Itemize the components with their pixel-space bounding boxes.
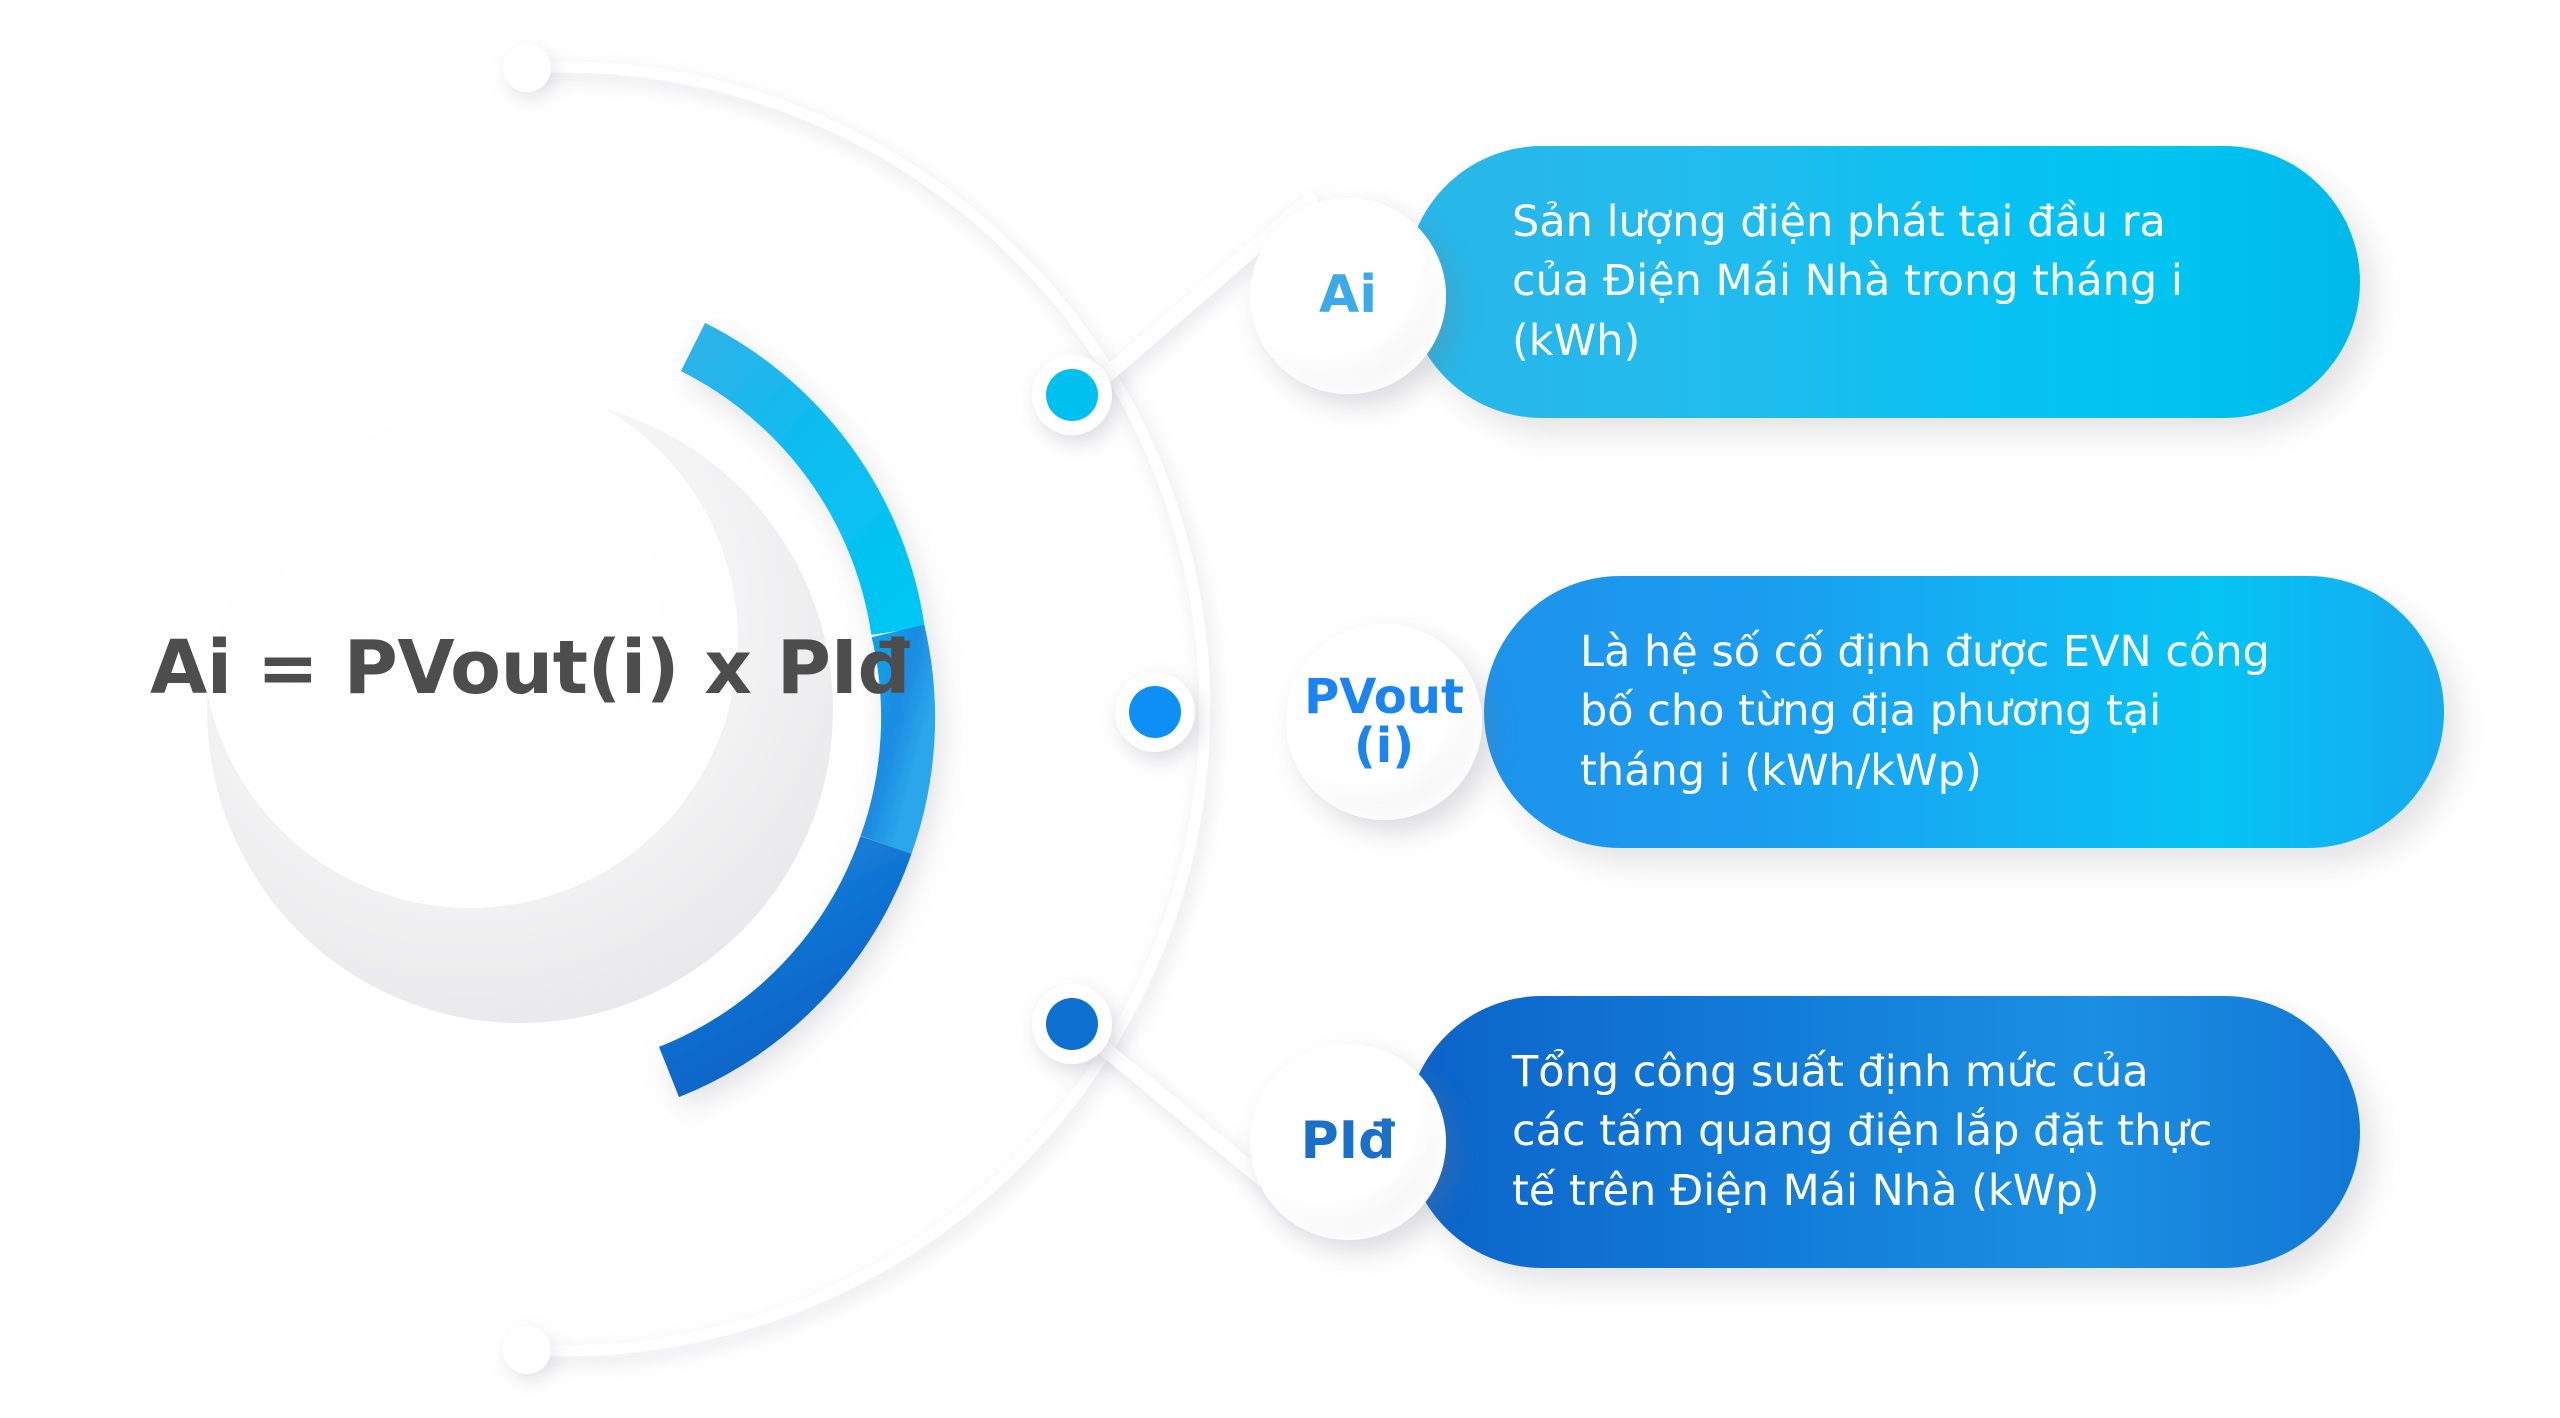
description-card-ai[interactable]: Sản lượng điện phát tại đầu ra của Điện … — [1406, 146, 2360, 418]
item-row-ai: Sản lượng điện phát tại đầu ra của Điện … — [0, 132, 2560, 432]
item-row-pvout: Là hệ số cố định được EVN công bố cho từ… — [0, 562, 2560, 862]
description-card-pid[interactable]: Tổng công suất định mức của các tấm quan… — [1406, 996, 2360, 1268]
outer-arc-cap-top — [503, 44, 551, 92]
badge-label-pid: PIđ — [1301, 1115, 1396, 1168]
description-text-ai: Sản lượng điện phát tại đầu ra của Điện … — [1406, 193, 2183, 371]
description-text-pvout: Là hệ số cố định được EVN công bố cho từ… — [1484, 623, 2270, 801]
infographic-canvas: Ai = PVout(i) x PIđ Sản lượng điện phát … — [0, 0, 2560, 1418]
badge-pvout[interactable]: PVout (i) — [1286, 624, 1482, 820]
item-row-pid: Tổng công suất định mức của các tấm quan… — [0, 982, 2560, 1282]
description-text-pid: Tổng công suất định mức của các tấm quan… — [1406, 1043, 2212, 1221]
badge-pid[interactable]: PIđ — [1250, 1044, 1446, 1240]
badge-ai[interactable]: Ai — [1250, 198, 1446, 394]
outer-arc-cap-bottom — [503, 1326, 551, 1374]
badge-label-ai: Ai — [1319, 269, 1377, 322]
badge-label-pvout: PVout (i) — [1304, 673, 1464, 771]
description-card-pvout[interactable]: Là hệ số cố định được EVN công bố cho từ… — [1484, 576, 2444, 848]
